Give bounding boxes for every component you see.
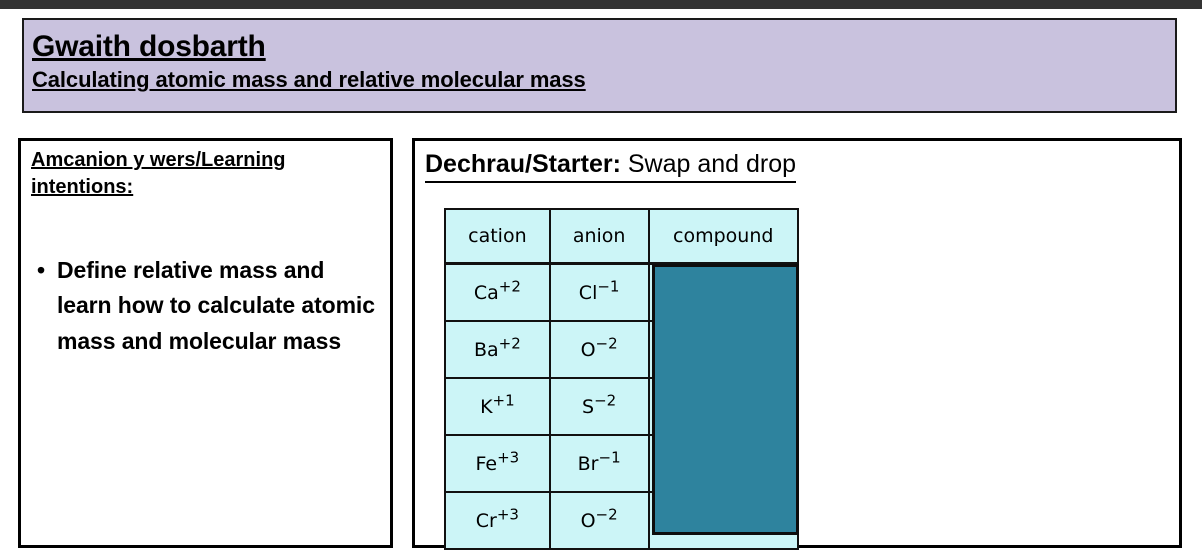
column-header-anion: anion [550,209,649,264]
anion-symbol: Br [578,453,599,475]
top-dark-strip [0,0,1202,9]
anion-symbol: O [581,339,596,361]
slide-title-sub: Calculating atomic mass and relative mol… [32,67,586,93]
anion-symbol: Cl [579,282,598,304]
learning-intentions-list: • Define relative mass and learn how to … [31,253,380,360]
anion-charge: −1 [599,448,621,466]
cell-anion[interactable]: O−2 [550,321,649,378]
cell-anion[interactable]: S−2 [550,378,649,435]
cell-anion[interactable]: Br−1 [550,435,649,492]
anion-charge: −1 [597,277,619,295]
starter-task-text: Swap and drop [621,150,796,178]
cation-charge: +1 [493,391,515,409]
ion-table-container: cation anion compound Ca+2 Cl−1 Ba+2 O−2 [444,208,799,550]
slide-title-main: Gwaith dosbarth [32,30,266,65]
cation-symbol: Ba [474,339,499,361]
cation-symbol: K [480,396,492,418]
anion-symbol: O [581,510,596,532]
cation-charge: +2 [499,277,521,295]
bullet-icon: • [37,253,45,289]
anion-symbol: S [582,396,594,418]
cation-symbol: Cr [476,510,497,532]
compound-answer-cover[interactable] [652,264,799,535]
anion-charge: −2 [596,334,618,352]
cation-symbol: Ca [474,282,499,304]
table-head: cation anion compound [445,209,798,264]
list-item: • Define relative mass and learn how to … [31,253,380,360]
cell-cation[interactable]: Ba+2 [445,321,550,378]
cell-anion[interactable]: O−2 [550,492,649,549]
cell-cation[interactable]: Cr+3 [445,492,550,549]
cation-symbol: Fe [476,453,498,475]
table-header-row: cation anion compound [445,209,798,264]
slide-title-banner: Gwaith dosbarth Calculating atomic mass … [22,18,1177,113]
cell-anion[interactable]: Cl−1 [550,264,649,322]
cation-charge: +3 [497,505,519,523]
cation-charge: +3 [497,448,519,466]
column-header-compound: compound [649,209,798,264]
cell-cation[interactable]: Fe+3 [445,435,550,492]
starter-label: Dechrau/Starter: [425,150,621,178]
starter-activity-panel: Dechrau/Starter: Swap and drop cation an… [412,138,1182,548]
list-item-label: Define relative mass and learn how to ca… [57,257,375,354]
anion-charge: −2 [594,391,616,409]
cell-cation[interactable]: Ca+2 [445,264,550,322]
cation-charge: +2 [499,334,521,352]
anion-charge: −2 [596,505,618,523]
learning-intentions-heading: Amcanion y wers/Learning intentions: [31,149,286,198]
column-header-cation: cation [445,209,550,264]
slide-title-sub-row: Calculating atomic mass and relative mol… [32,67,1175,93]
cell-cation[interactable]: K+1 [445,378,550,435]
starter-heading: Dechrau/Starter: Swap and drop [425,149,796,183]
learning-intentions-panel: Amcanion y wers/Learning intentions: • D… [18,138,393,548]
slide-title-main-row: Gwaith dosbarth [32,30,1175,65]
